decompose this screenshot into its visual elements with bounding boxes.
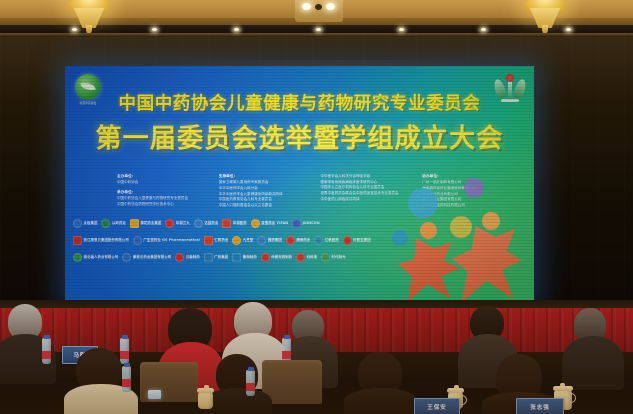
conference-hall-photo: 中国中药协会 中国中药协会儿童健康与药物研究专业委员会 第一届委员会选举暨学组成… [0,0,633,414]
cup-knob [204,385,209,389]
cup-handle [460,395,467,405]
bottle-label [246,383,255,391]
spotlight-glow [477,26,490,34]
bottle-cap [284,335,290,339]
ceiling-projector [295,0,343,22]
spotlight-glow [148,26,161,34]
name-placard: 王保安 [414,398,460,414]
led-vignette [65,66,534,304]
cup-knob [454,385,459,389]
spotlight-glow [68,26,81,34]
projector-lens [315,4,322,10]
bottle-cap [122,335,128,339]
bottle-cap [124,363,130,367]
bottle-body [122,366,131,392]
bottle-cap [44,335,50,339]
bottle-label [122,379,131,387]
bottle-body [246,370,255,396]
spotlight-glow [230,26,243,34]
cup-knob [560,383,565,387]
led-banner-screen: 中国中药协会 中国中药协会儿童健康与药物研究专业委员会 第一届委员会选举暨学组成… [65,66,534,304]
cup-body [198,392,213,409]
spotlight-glow [312,26,325,34]
name-placard: 张志强 [516,398,564,414]
attendee-shoulders [344,388,418,414]
spotlight-glow [562,26,575,34]
attendee-shoulders [562,336,624,390]
placard-name: 张志强 [530,403,550,411]
attendee-shoulders [204,388,272,414]
bottle-label [42,351,51,359]
bottle-body [120,338,129,364]
projector-lamp-left [302,3,311,10]
spotlight-glow [395,26,408,34]
placard-name: 王保安 [427,403,447,411]
smartphone[interactable] [148,390,161,399]
projector-lamp-right [326,3,335,10]
audience-area: 马融 [0,300,633,414]
cup-handle [569,393,576,403]
bottle-label [120,351,129,359]
bottle-cap [248,367,254,371]
bottle-body [42,338,51,364]
bottle-label [282,351,291,359]
